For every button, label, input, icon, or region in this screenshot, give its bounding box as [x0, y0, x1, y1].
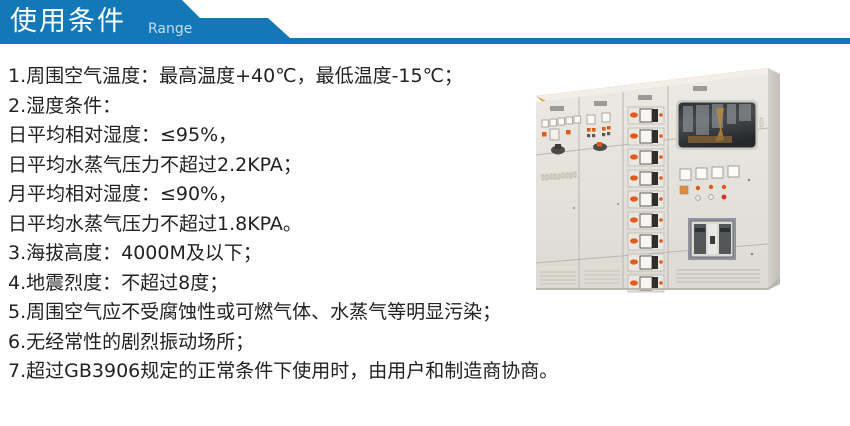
list-item: 7.超过GB3906规定的正常条件下使用时，由用户和制造商协商。 — [8, 357, 798, 387]
list-item: 6.无经常性的剧烈振动场所； — [8, 328, 798, 358]
cabinet-side-face — [768, 68, 780, 288]
inspection-window — [676, 100, 763, 150]
page-header: 使用条件 Range — [0, 0, 850, 48]
header-banner-shape — [0, 0, 850, 48]
switchgear-cabinet-image — [528, 58, 848, 308]
circuit-breaker-module — [688, 218, 736, 260]
page-title: 使用条件 — [10, 6, 126, 38]
page-subtitle: Range — [148, 20, 192, 38]
